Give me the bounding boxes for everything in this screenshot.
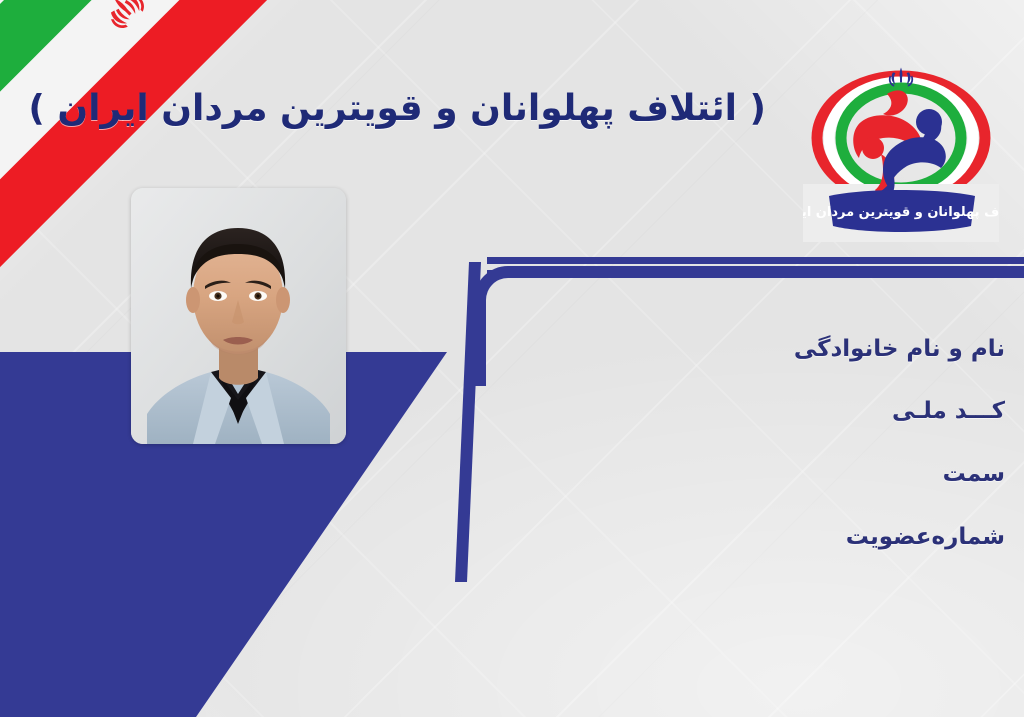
membership-card: ( ائتلاف پهلوانان و قویترین مردان ایران … xyxy=(0,0,1024,717)
field-label-membership-number: شماره‌عضویت xyxy=(846,524,1005,550)
field-label-national-code: کـــد ملـی xyxy=(892,398,1005,424)
field-label-position: سمت xyxy=(943,461,1005,487)
field-label-full-name: نام و نام خانوادگی xyxy=(794,336,1005,362)
field-list: نام و نام خانوادگی سجاد سوری لکی کـــد م… xyxy=(0,0,1024,717)
